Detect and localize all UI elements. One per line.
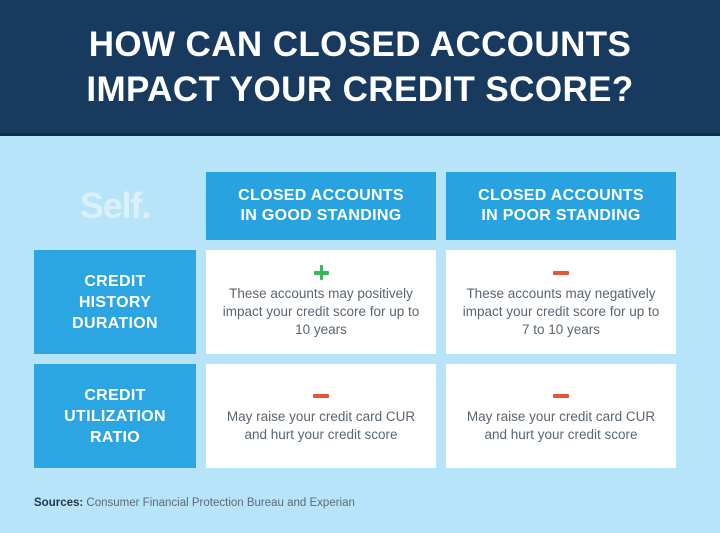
cell-utilization-good-standing: May raise your credit card CUR and hurt … — [206, 364, 436, 468]
minus-icon — [313, 389, 329, 403]
column-header-good-standing-line-2: IN GOOD STANDING — [241, 206, 402, 226]
comparison-grid: Self. CLOSED ACCOUNTS IN GOOD STANDING C… — [34, 172, 686, 472]
self-logo: Self. — [80, 188, 150, 224]
column-header-poor-standing-line-2: IN POOR STANDING — [481, 206, 640, 226]
cell-history-poor-standing-text: These accounts may negatively impact you… — [458, 285, 664, 339]
row-label-line-1: CREDIT — [84, 385, 145, 406]
row-label-line-3: RATIO — [90, 427, 140, 448]
sources-footer: Sources: Consumer Financial Protection B… — [34, 495, 355, 511]
cell-history-good-standing-text: These accounts may positively impact you… — [218, 285, 424, 339]
cell-utilization-poor-standing-text: May raise your credit card CUR and hurt … — [458, 408, 664, 444]
row-label-credit-history-duration: CREDIT HISTORY DURATION — [34, 250, 196, 354]
table-row-credit-utilization-ratio: CREDIT UTILIZATION RATIO May raise your … — [34, 364, 686, 468]
grid-header-row: Self. CLOSED ACCOUNTS IN GOOD STANDING C… — [34, 172, 686, 240]
row-label-line-1: CREDIT — [84, 271, 145, 292]
row-label-credit-utilization-ratio: CREDIT UTILIZATION RATIO — [34, 364, 196, 468]
cell-utilization-good-standing-text: May raise your credit card CUR and hurt … — [218, 408, 424, 444]
cell-history-good-standing: These accounts may positively impact you… — [206, 250, 436, 354]
minus-icon — [553, 266, 569, 280]
page-title-line-2: IMPACT YOUR CREDIT SCORE? — [0, 67, 720, 112]
column-header-good-standing-line-1: CLOSED ACCOUNTS — [238, 186, 404, 206]
cell-history-poor-standing: These accounts may negatively impact you… — [446, 250, 676, 354]
row-label-line-2: HISTORY — [79, 292, 151, 313]
cell-utilization-poor-standing: May raise your credit card CUR and hurt … — [446, 364, 676, 468]
title-banner: HOW CAN CLOSED ACCOUNTS IMPACT YOUR CRED… — [0, 0, 720, 136]
row-label-line-2: UTILIZATION — [64, 406, 166, 427]
minus-icon — [553, 389, 569, 403]
sources-label: Sources: — [34, 497, 83, 509]
page-title: HOW CAN CLOSED ACCOUNTS IMPACT YOUR CRED… — [0, 22, 720, 112]
row-label-line-3: DURATION — [72, 313, 158, 334]
plus-icon — [314, 266, 329, 280]
column-header-good-standing: CLOSED ACCOUNTS IN GOOD STANDING — [206, 172, 436, 240]
infographic-root: HOW CAN CLOSED ACCOUNTS IMPACT YOUR CRED… — [0, 0, 720, 533]
table-row-credit-history-duration: CREDIT HISTORY DURATION These accounts m… — [34, 250, 686, 354]
column-header-poor-standing-line-1: CLOSED ACCOUNTS — [478, 186, 644, 206]
column-header-poor-standing: CLOSED ACCOUNTS IN POOR STANDING — [446, 172, 676, 240]
page-title-line-1: HOW CAN CLOSED ACCOUNTS — [0, 22, 720, 67]
sources-value: Consumer Financial Protection Bureau and… — [86, 497, 354, 509]
brand-logo-cell: Self. — [34, 172, 196, 240]
